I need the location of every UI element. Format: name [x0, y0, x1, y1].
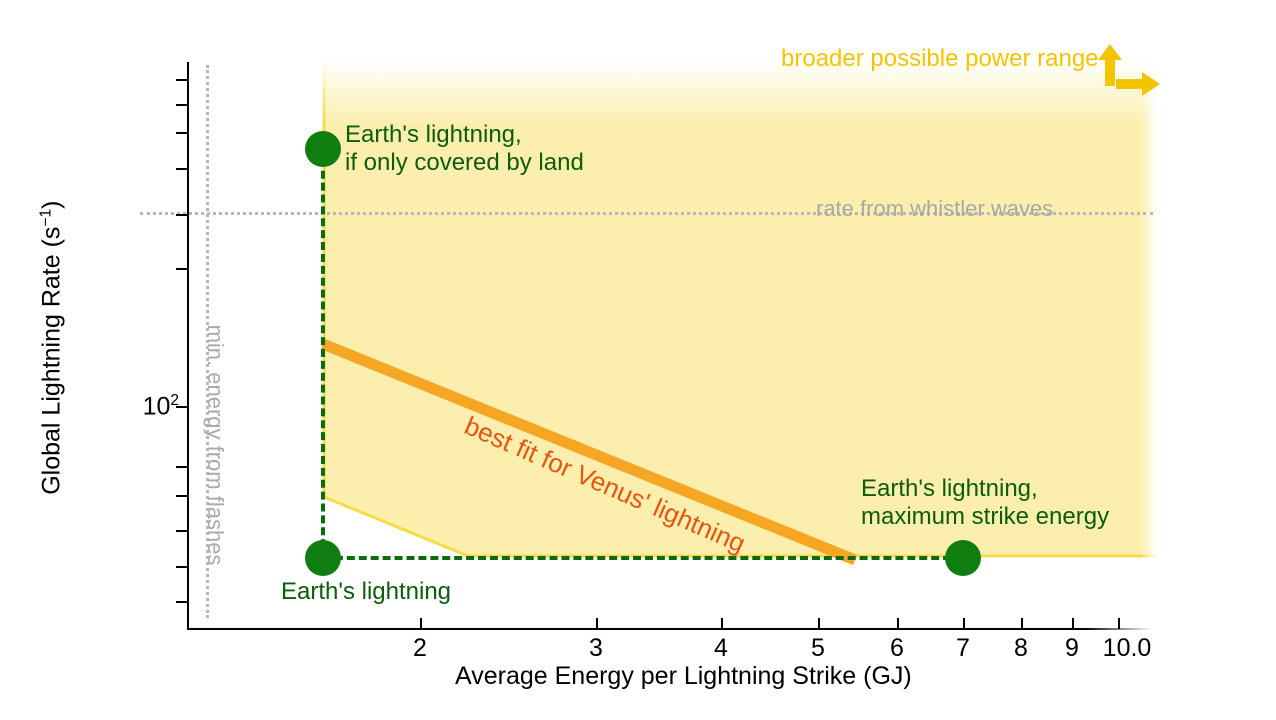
y-tick: [176, 601, 187, 603]
x-tick: [963, 618, 965, 629]
earth-horizontal-guide: [323, 556, 963, 560]
x-tick-label-4: 4: [714, 634, 728, 663]
y-axis-title: Global Lightning Rate (s−1): [37, 178, 66, 518]
y-axis-title-close: ): [38, 201, 66, 209]
x-tick-label-9: 9: [1065, 634, 1079, 663]
y-tick: [176, 530, 187, 532]
x-tick: [897, 618, 899, 629]
x-tick: [1021, 618, 1023, 629]
y-tick: [176, 466, 187, 468]
x-axis-spine: [187, 628, 1152, 630]
broader-range-label: broader possible power range: [781, 45, 1099, 73]
x-tick-label-6: 6: [890, 634, 904, 663]
label-earth-land: Earth's lightning, if only covered by la…: [345, 121, 584, 178]
x-tick: [818, 618, 820, 629]
data-point-earth-land[interactable]: [305, 131, 341, 167]
y-tick: [176, 168, 187, 170]
x-tick-label-3: 3: [589, 634, 603, 663]
label-earth-lightning: Earth's lightning: [281, 578, 451, 606]
x-tick-label-10: 10.0: [1103, 634, 1152, 663]
y-tick: [176, 495, 187, 497]
x-tick-label-5: 5: [811, 634, 825, 663]
arrow-right-icon: [1116, 72, 1160, 96]
x-tick: [420, 618, 422, 629]
y-tick: [176, 79, 187, 81]
y-tick: [176, 268, 187, 270]
range-arrows-group: [1098, 38, 1168, 107]
data-point-earth-lightning[interactable]: [305, 540, 341, 576]
x-tick: [721, 618, 723, 629]
x-tick-label-2: 2: [413, 634, 427, 663]
y-tick: [176, 132, 187, 134]
y-axis-spine: [187, 62, 189, 629]
data-point-earth-max-energy[interactable]: [945, 540, 981, 576]
x-tick: [1118, 618, 1120, 629]
y-axis-title-exponent: −1: [37, 209, 54, 227]
y-tick: [176, 214, 187, 216]
y-tick: [176, 566, 187, 568]
chart-canvas: rate from whistler waves min. energy fro…: [0, 0, 1276, 720]
y-tick: [176, 104, 187, 106]
x-tick-label-8: 8: [1014, 634, 1028, 663]
x-axis-title: Average Energy per Lightning Strike (GJ): [455, 662, 912, 691]
min-energy-reference-label: min. energy from flashes: [202, 300, 228, 590]
y-tick-exponent: 2: [170, 392, 179, 409]
x-tick: [1072, 618, 1074, 629]
y-tick-label-100: 102: [143, 392, 179, 421]
x-tick: [596, 618, 598, 629]
x-tick-label-7: 7: [956, 634, 970, 663]
whistler-reference-label: rate from whistler waves: [816, 196, 1053, 222]
y-axis-title-main: Global Lightning Rate (s: [38, 227, 66, 495]
earth-vertical-guide: [321, 147, 325, 559]
y-tick-base: 10: [143, 392, 171, 420]
label-earth-max-energy: Earth's lightning, maximum strike energy: [861, 475, 1109, 532]
